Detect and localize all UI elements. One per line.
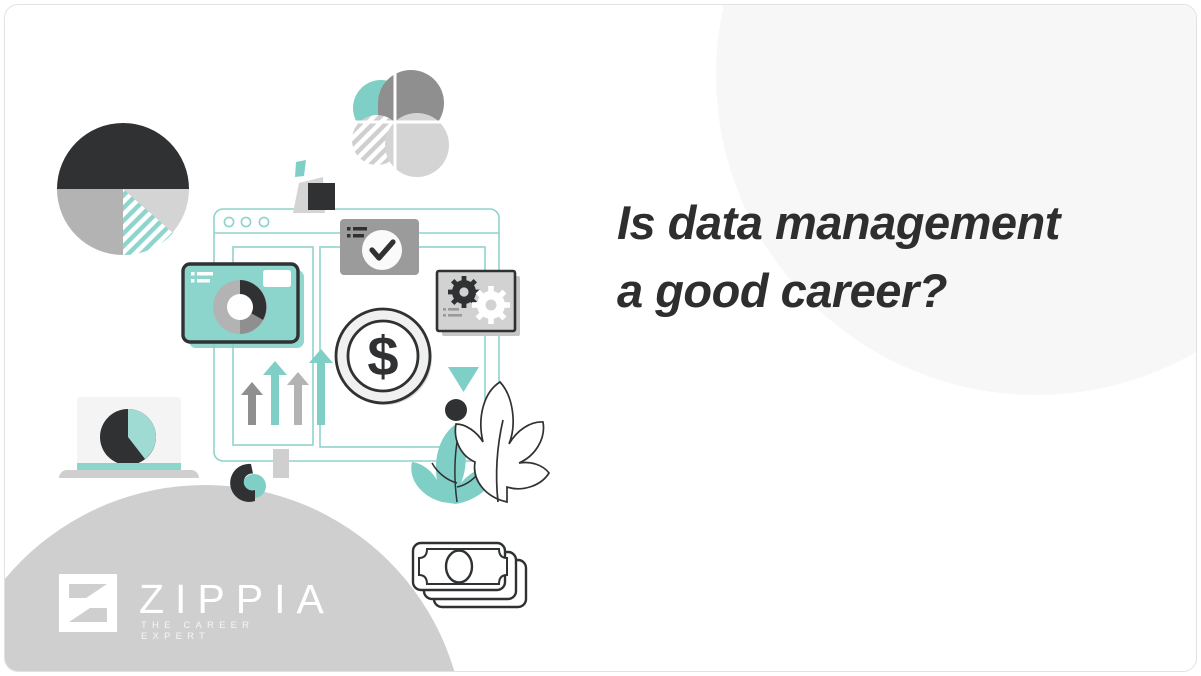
rect-gray-icon (273, 449, 289, 478)
donut-chart-card (183, 264, 304, 348)
checkmark-card (340, 219, 419, 275)
svg-text:$: $ (367, 325, 398, 388)
page-title-line-1: Is data management (617, 189, 1177, 257)
bar-arrows-chart (241, 349, 333, 425)
teal-tag-icon (295, 160, 306, 177)
laptop-pie-chart-icon (59, 397, 199, 478)
zippia-logo[interactable]: ZIPPIA THE CAREER EXPERT (57, 572, 307, 636)
triangle-teal-icon (448, 367, 479, 392)
banknote-stack-icon (413, 543, 526, 607)
zippia-tagline: THE CAREER EXPERT (141, 620, 307, 642)
gears-card (437, 271, 520, 336)
square-dark-icon (308, 183, 335, 210)
dot-dark-icon (445, 399, 467, 421)
pie-chart-icon (57, 123, 189, 255)
dollar-coin-icon: $ (336, 309, 432, 405)
c-arc-dark-icon (230, 464, 266, 502)
page-title-line-2: a good career? (617, 257, 1177, 325)
clover-shape-icon (343, 67, 477, 185)
zippia-wordmark: ZIPPIA (139, 576, 335, 623)
promo-card: $ (4, 4, 1197, 672)
zippia-logo-mark-icon (57, 572, 119, 634)
page-title: Is data management a good career? (617, 189, 1177, 325)
